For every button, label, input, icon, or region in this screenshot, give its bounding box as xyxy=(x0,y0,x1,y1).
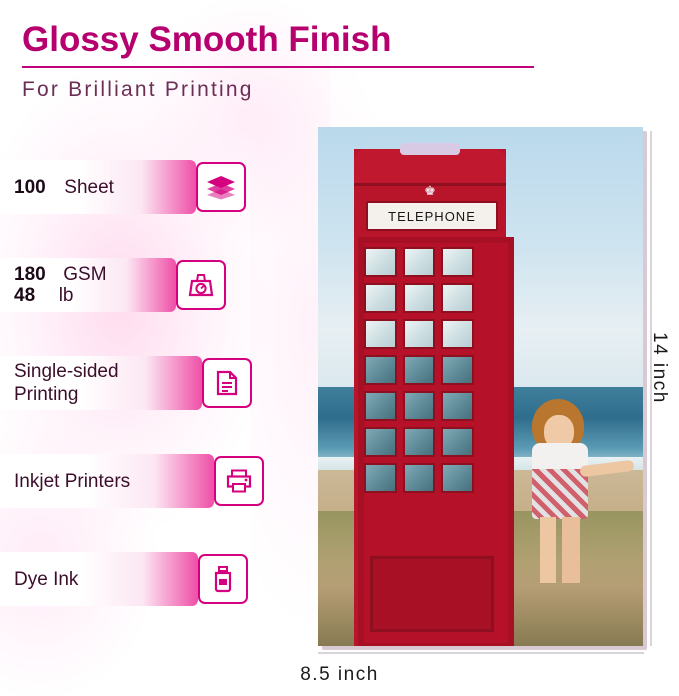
feature-row-ink-type: Dye Ink xyxy=(0,552,300,606)
window-pane xyxy=(441,427,474,457)
window-pane xyxy=(441,283,474,313)
product-photo: ♚ TELEPHONE xyxy=(318,127,643,646)
window-pane xyxy=(403,463,436,493)
window-pane xyxy=(364,355,397,385)
feature-icon-container xyxy=(192,160,250,214)
feature-icon-container xyxy=(172,258,230,312)
crown-emblem-icon: ♚ xyxy=(416,183,444,199)
window-pane xyxy=(364,463,397,493)
window-pane xyxy=(364,247,397,277)
feature-list: 100 Sheet 180 GSM 48 xyxy=(0,160,300,650)
width-dimension-label: 8.5 inch xyxy=(0,664,679,686)
ink-bottle-icon xyxy=(198,554,248,604)
telephone-box: ♚ TELEPHONE xyxy=(354,149,506,646)
window-pane xyxy=(364,391,397,421)
feature-icon-container xyxy=(198,356,256,410)
window-pane xyxy=(403,427,436,457)
window-pane xyxy=(441,391,474,421)
window-pane xyxy=(441,247,474,277)
feature-label: Dye Ink xyxy=(14,552,78,606)
feature-icon-container xyxy=(210,454,268,508)
window-pane xyxy=(403,355,436,385)
feature-number-secondary: 48 xyxy=(14,285,35,306)
feature-text: Inkjet Printers xyxy=(14,470,130,493)
feature-icon-container xyxy=(194,552,252,606)
window-pane xyxy=(403,391,436,421)
document-page-icon xyxy=(202,358,252,408)
width-dimension-line xyxy=(318,652,644,654)
feature-number: 100 xyxy=(14,177,46,198)
feature-text-secondary: Printing xyxy=(14,383,119,406)
feature-number: 180 xyxy=(14,264,46,285)
window-pane xyxy=(364,283,397,313)
feature-label: Inkjet Printers xyxy=(14,454,130,508)
telephone-box-window-grid xyxy=(364,247,474,493)
telephone-sign-text: TELEPHONE xyxy=(388,209,476,224)
window-pane xyxy=(441,355,474,385)
feature-label: 180 GSM 48 lb xyxy=(14,258,107,312)
height-dimension-label: 14 inch xyxy=(648,332,670,404)
feature-text: Sheet xyxy=(64,177,114,198)
feature-label: 100 Sheet xyxy=(14,160,114,214)
feature-text-secondary: lb xyxy=(59,285,74,306)
child-top xyxy=(532,443,588,469)
feature-row-paper-weight: 180 GSM 48 lb xyxy=(0,258,300,312)
window-pane xyxy=(403,283,436,313)
window-pane xyxy=(364,427,397,457)
window-pane xyxy=(441,319,474,349)
feature-label: Single-sided Printing xyxy=(14,356,119,410)
feature-text: Dye Ink xyxy=(14,568,78,591)
feature-text: GSM xyxy=(63,264,106,285)
window-pane xyxy=(403,319,436,349)
header: Glossy Smooth Finish For Brilliant Print… xyxy=(22,18,552,102)
window-pane xyxy=(403,247,436,277)
printer-icon xyxy=(214,456,264,506)
window-pane xyxy=(364,319,397,349)
feature-row-sheet-count: 100 Sheet xyxy=(0,160,300,214)
window-pane xyxy=(441,463,474,493)
child-legs xyxy=(540,517,580,583)
telephone-box-roof xyxy=(354,149,506,186)
feature-row-print-sides: Single-sided Printing xyxy=(0,356,300,410)
paper-stack-icon xyxy=(196,162,246,212)
scale-weight-icon xyxy=(176,260,226,310)
feature-text: Single-sided xyxy=(14,360,119,383)
feature-row-printer-type: Inkjet Printers xyxy=(0,454,300,508)
telephone-box-roof-cap xyxy=(400,143,460,155)
title-divider xyxy=(22,66,534,68)
page-subtitle: For Brilliant Printing xyxy=(22,78,552,102)
page-title: Glossy Smooth Finish xyxy=(22,18,552,62)
telephone-box-lower-panel xyxy=(370,556,494,632)
telephone-sign: TELEPHONE xyxy=(366,201,498,231)
